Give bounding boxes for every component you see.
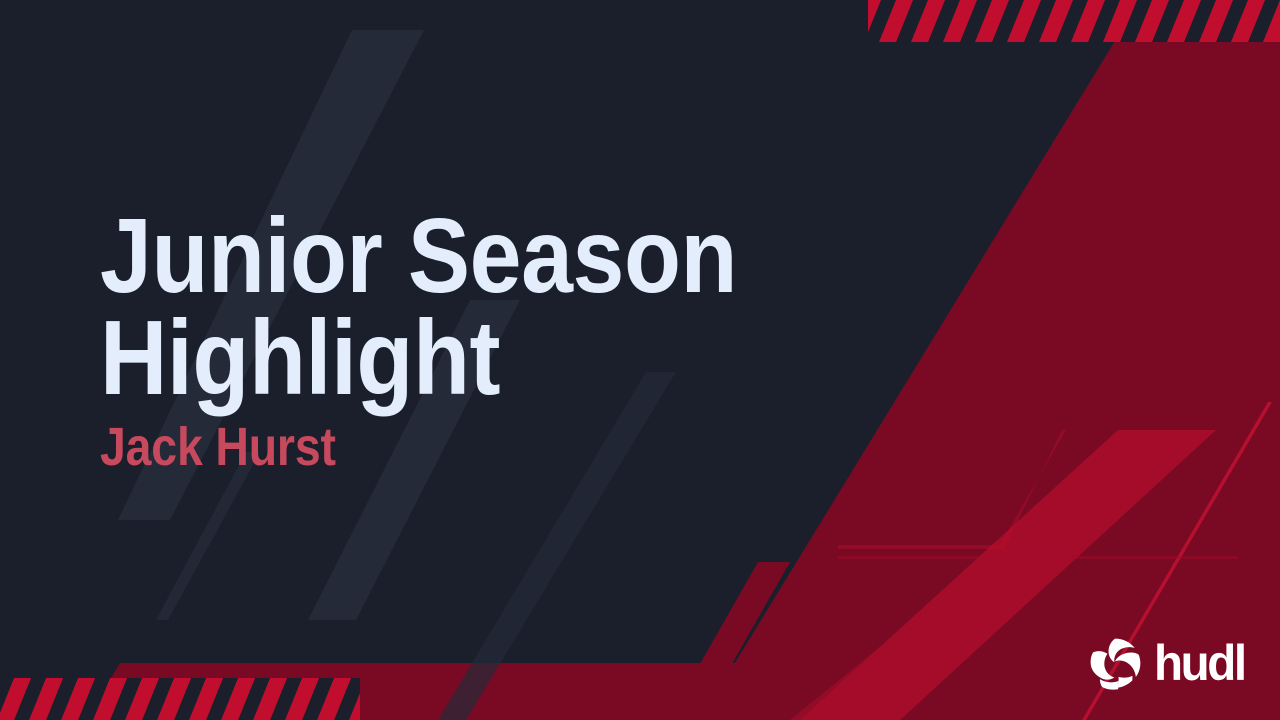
bg-right-hairline-3 — [838, 556, 1238, 559]
title-line-2: Highlight — [100, 308, 769, 410]
title-card: Junior Season Highlight Jack Hurst hudl — [0, 0, 1280, 720]
hudl-logo: hudl — [1086, 634, 1252, 692]
bg-hatch-bottom-left — [0, 678, 360, 720]
bg-hatch-top-right — [868, 0, 1280, 42]
title-line-1: Junior Season — [100, 206, 769, 308]
subtitle-player-name: Jack Hurst — [100, 420, 754, 474]
hudl-pinwheel-icon — [1086, 635, 1144, 691]
title-block: Junior Season Highlight Jack Hurst — [100, 206, 860, 474]
hudl-wordmark: hudl — [1154, 638, 1245, 688]
